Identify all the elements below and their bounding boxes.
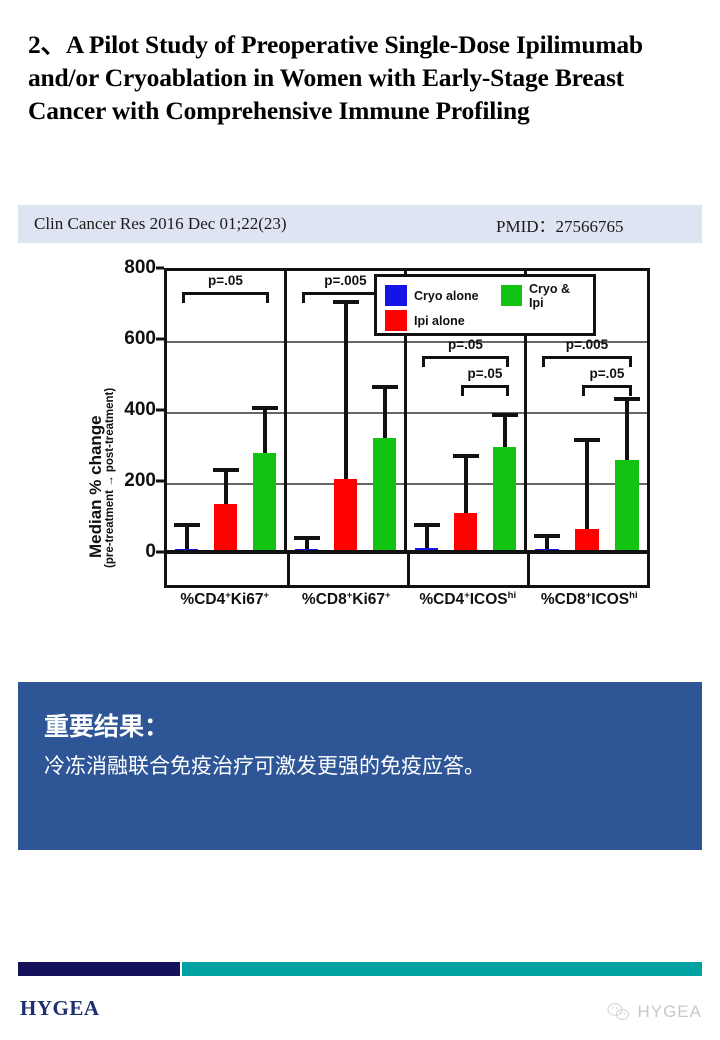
legend-swatch-ipi-alone [385,310,407,331]
legend-label-cryo-alone: Cryo alone [414,289,479,303]
p-value-label: p=.05 [582,366,632,381]
bracket-line [422,356,509,359]
error-bar-cap [294,536,320,540]
error-bar [344,304,348,480]
x-axis-band [164,552,650,588]
y-tick-label: 200 [124,470,156,492]
error-bar [503,417,507,447]
chart-panel: p=.05 [167,271,287,552]
bracket-line [582,385,632,388]
bracket-tick-left [461,385,464,396]
footer-accent-bar-navy [18,962,180,976]
bracket-tick-left [582,385,585,396]
error-bar-cap [492,413,518,417]
bar-both [373,438,396,552]
bar-slot [330,271,360,552]
y-tick-mark [156,338,164,341]
p-value-label: p=.05 [422,337,509,352]
bar-chart-figure: Median % change (pre-treatment → post-tr… [70,268,650,623]
error-bar [383,389,387,439]
bar-slot [171,271,201,552]
error-bar-cap [574,438,600,442]
error-bar-cap [614,397,640,401]
y-axis-label-group: Median % change (pre-treatment → post-tr… [70,268,120,568]
error-bar-cap [213,468,239,472]
legend-label-ipi-alone: Ipi alone [414,314,465,328]
bar-both [253,453,276,552]
bar-ipi [214,504,237,552]
y-tick-label: 800 [124,257,156,279]
y-tick-mark [156,551,164,554]
error-bar [425,527,429,548]
bracket-tick-left [302,292,305,303]
error-bar [263,410,267,453]
error-bar [305,540,309,549]
x-axis-category-label: %CD4+ICOShi [407,590,529,620]
p-value-label: p=.005 [542,337,632,352]
error-bar [224,472,228,504]
x-axis-category-label: %CD8+ICOShi [529,590,651,620]
bar-ipi [334,479,357,552]
bar-ipi [575,529,599,552]
y-tick-mark [156,480,164,483]
y-tick-label: 600 [124,328,156,350]
bracket-tick-right [629,385,632,396]
footer-accent-bar-teal [182,962,702,976]
footer-wechat-label: HYGEA [637,1002,702,1022]
error-bar [464,458,468,513]
error-bar-cap [534,534,560,538]
key-results-box: 重要结果： 冷冻消融联合免疫治疗可激发更强的免疫应答。 [18,682,702,850]
error-bar [185,527,189,549]
error-bar-cap [174,523,200,527]
bracket-tick-right [266,292,269,303]
x-axis-category-label: %CD8+Ki67+ [286,590,408,620]
bar-slot [291,271,321,552]
error-bar [585,442,589,529]
p-value-label: p=.05 [182,273,269,288]
key-results-heading: 重要结果： [44,710,676,744]
bar-ipi [454,513,477,552]
error-bar-cap [414,523,440,527]
y-tick-label: 400 [124,399,156,421]
legend-label-cryo-and-ipi: Cryo & Ipi [529,282,585,310]
y-tick-mark [156,267,164,270]
bar-both [615,460,639,552]
citation-journal: Clin Cancer Res 2016 Dec 01;22(23) [34,214,287,234]
y-axis-ticks: 0200400600800 [118,268,164,552]
bracket-tick-left [182,292,185,303]
bar-slot [611,271,642,552]
y-tick-label: 0 [145,541,156,563]
error-bar-cap [372,385,398,389]
error-bar [625,401,629,460]
y-axis-sublabel: (pre-treatment → post-treatment) [104,388,116,568]
citation-bar: Clin Cancer Res 2016 Dec 01;22(23) PMID：… [18,205,702,243]
bracket-tick-right [506,385,509,396]
y-axis-label: Median % change [86,415,106,558]
plot-area: 0200400600800 p=.05p=.005p=.05p=.05p=.00… [118,268,650,623]
bracket-line [461,385,509,388]
footer-wechat-group: HYGEA [607,1002,702,1022]
x-axis-category-label: %CD4+Ki67+ [164,590,286,620]
y-tick-mark [156,409,164,412]
bar-slot [210,271,240,552]
x-axis-labels: %CD4+Ki67+%CD8+Ki67+%CD4+ICOShi%CD8+ICOS… [164,590,650,620]
bracket-tick-left [422,356,425,367]
bracket-line [542,356,632,359]
legend-swatch-cryo-and-ipi [501,285,522,306]
footer-brand-text: HYGEA [20,996,100,1021]
error-bar-cap [333,300,359,304]
bar-group [167,271,284,552]
bar-slot [249,271,279,552]
key-results-text: 冷冻消融联合免疫治疗可激发更强的免疫应答。 [44,750,676,782]
legend-item-cryo-alone: Cryo alone [385,285,501,306]
x-band-separator [287,552,290,585]
citation-pmid: PMID：27566765 [496,212,624,237]
p-value-label: p=.05 [461,366,509,381]
page-title: 2、A Pilot Study of Preoperative Single-D… [28,28,688,127]
chart-legend: Cryo alone Cryo & Ipi Ipi alone [374,274,596,336]
legend-item-ipi-alone: Ipi alone [385,310,507,331]
error-bar-cap [252,406,278,410]
x-band-separator [407,552,410,585]
bracket-tick-left [542,356,545,367]
legend-item-cryo-and-ipi: Cryo & Ipi [501,282,585,310]
x-band-separator [527,552,530,585]
bar-both [493,447,516,552]
wechat-icon [607,1002,631,1022]
legend-swatch-cryo-alone [385,285,407,306]
error-bar-cap [453,454,479,458]
bracket-line [182,292,269,295]
error-bar [545,538,549,549]
